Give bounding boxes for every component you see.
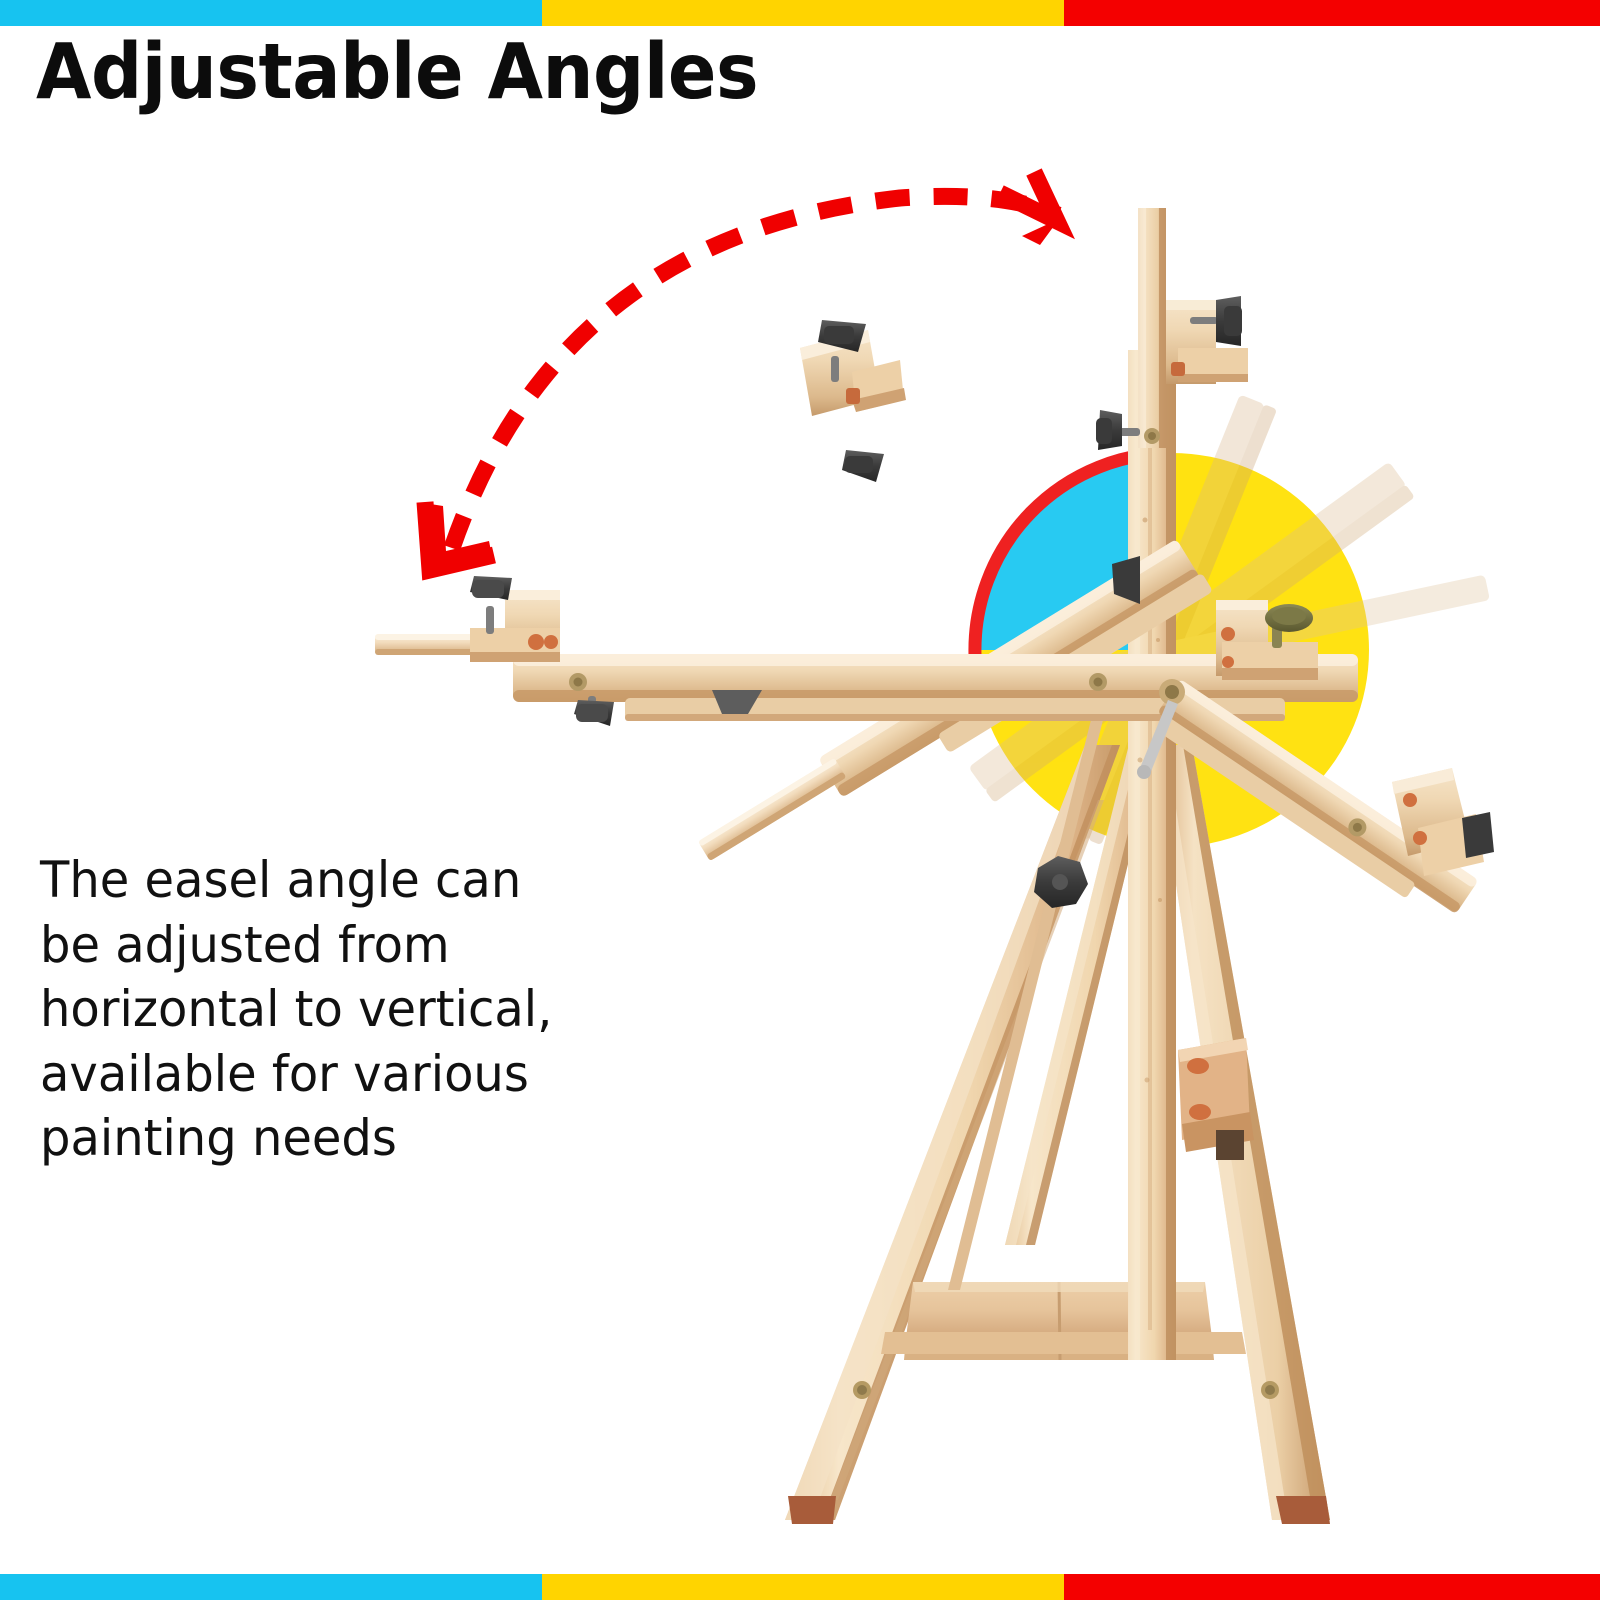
- clamp-block-left: [470, 590, 560, 662]
- bottom-bar-segment-yellow: [542, 1574, 1064, 1600]
- knob-diagonal-clamp[interactable]: [1462, 812, 1494, 858]
- dashed-rotation-arrow: [424, 172, 1059, 570]
- rotation-arc-dashes: [452, 196, 1058, 548]
- bottom-bar-segment-cyan: [0, 1574, 542, 1600]
- infographic-page: Adjustable Angles The easel angle can be…: [0, 0, 1600, 1600]
- product-illustration-stage: [0, 0, 1600, 1600]
- screw-mast-slot: [1148, 432, 1156, 440]
- easel-graphic: [0, 0, 1600, 1600]
- side-tray-bracket: [1178, 1038, 1254, 1160]
- cross-brace: [881, 1332, 1246, 1354]
- upper-extension-post: [1138, 208, 1166, 448]
- vertical-mast: [1128, 350, 1176, 1360]
- bottom-bar-segment-red: [1064, 1574, 1600, 1600]
- knob-tilted-arm-lower[interactable]: [842, 450, 884, 482]
- bottom-color-bar: [0, 1574, 1600, 1600]
